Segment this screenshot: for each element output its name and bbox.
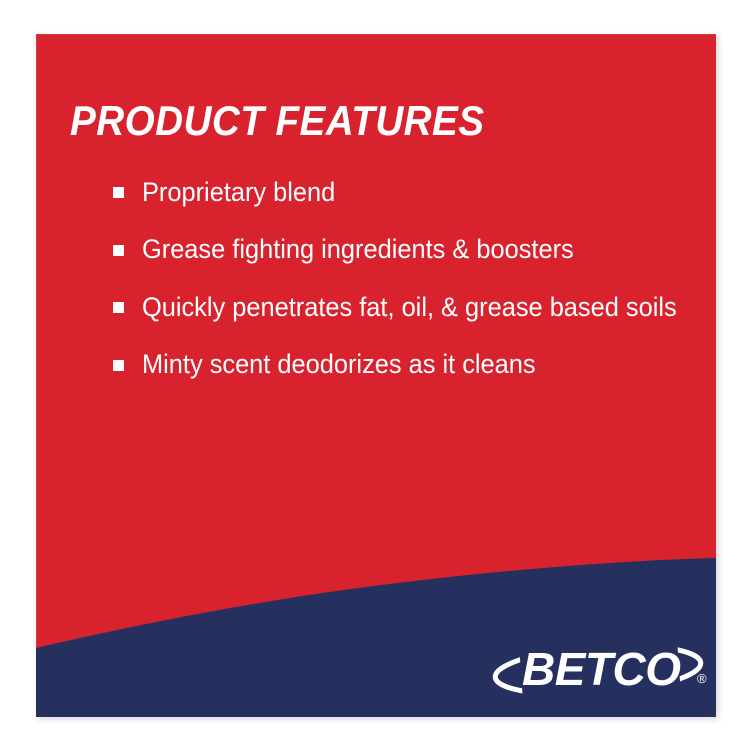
square-bullet-icon bbox=[113, 360, 124, 371]
feature-label: Grease fighting ingredients & boosters bbox=[142, 235, 574, 265]
feature-label: Proprietary blend bbox=[142, 178, 335, 208]
betco-logo-graphic: BETCO ® bbox=[488, 635, 716, 705]
feature-list: Proprietary blend Grease fighting ingred… bbox=[113, 164, 703, 394]
square-bullet-icon bbox=[113, 245, 124, 256]
square-bullet-icon bbox=[113, 302, 124, 313]
list-item: Minty scent deodorizes as it cleans bbox=[113, 337, 703, 395]
product-features-card: PRODUCT FEATURES Proprietary blend Greas… bbox=[36, 34, 716, 717]
screenshot-stage: PRODUCT FEATURES Proprietary blend Greas… bbox=[0, 0, 750, 750]
betco-wordmark: BETCO bbox=[522, 643, 681, 695]
betco-logo: BETCO ® bbox=[488, 635, 716, 705]
feature-label: Quickly penetrates fat, oil, & grease ba… bbox=[142, 293, 677, 323]
page-title: PRODUCT FEATURES bbox=[70, 100, 485, 142]
square-bullet-icon bbox=[113, 187, 124, 198]
list-item: Proprietary blend bbox=[113, 164, 703, 222]
registered-trademark-icon: ® bbox=[697, 671, 707, 686]
feature-label: Minty scent deodorizes as it cleans bbox=[142, 350, 536, 380]
list-item: Quickly penetrates fat, oil, & grease ba… bbox=[113, 279, 703, 337]
list-item: Grease fighting ingredients & boosters bbox=[113, 222, 703, 280]
